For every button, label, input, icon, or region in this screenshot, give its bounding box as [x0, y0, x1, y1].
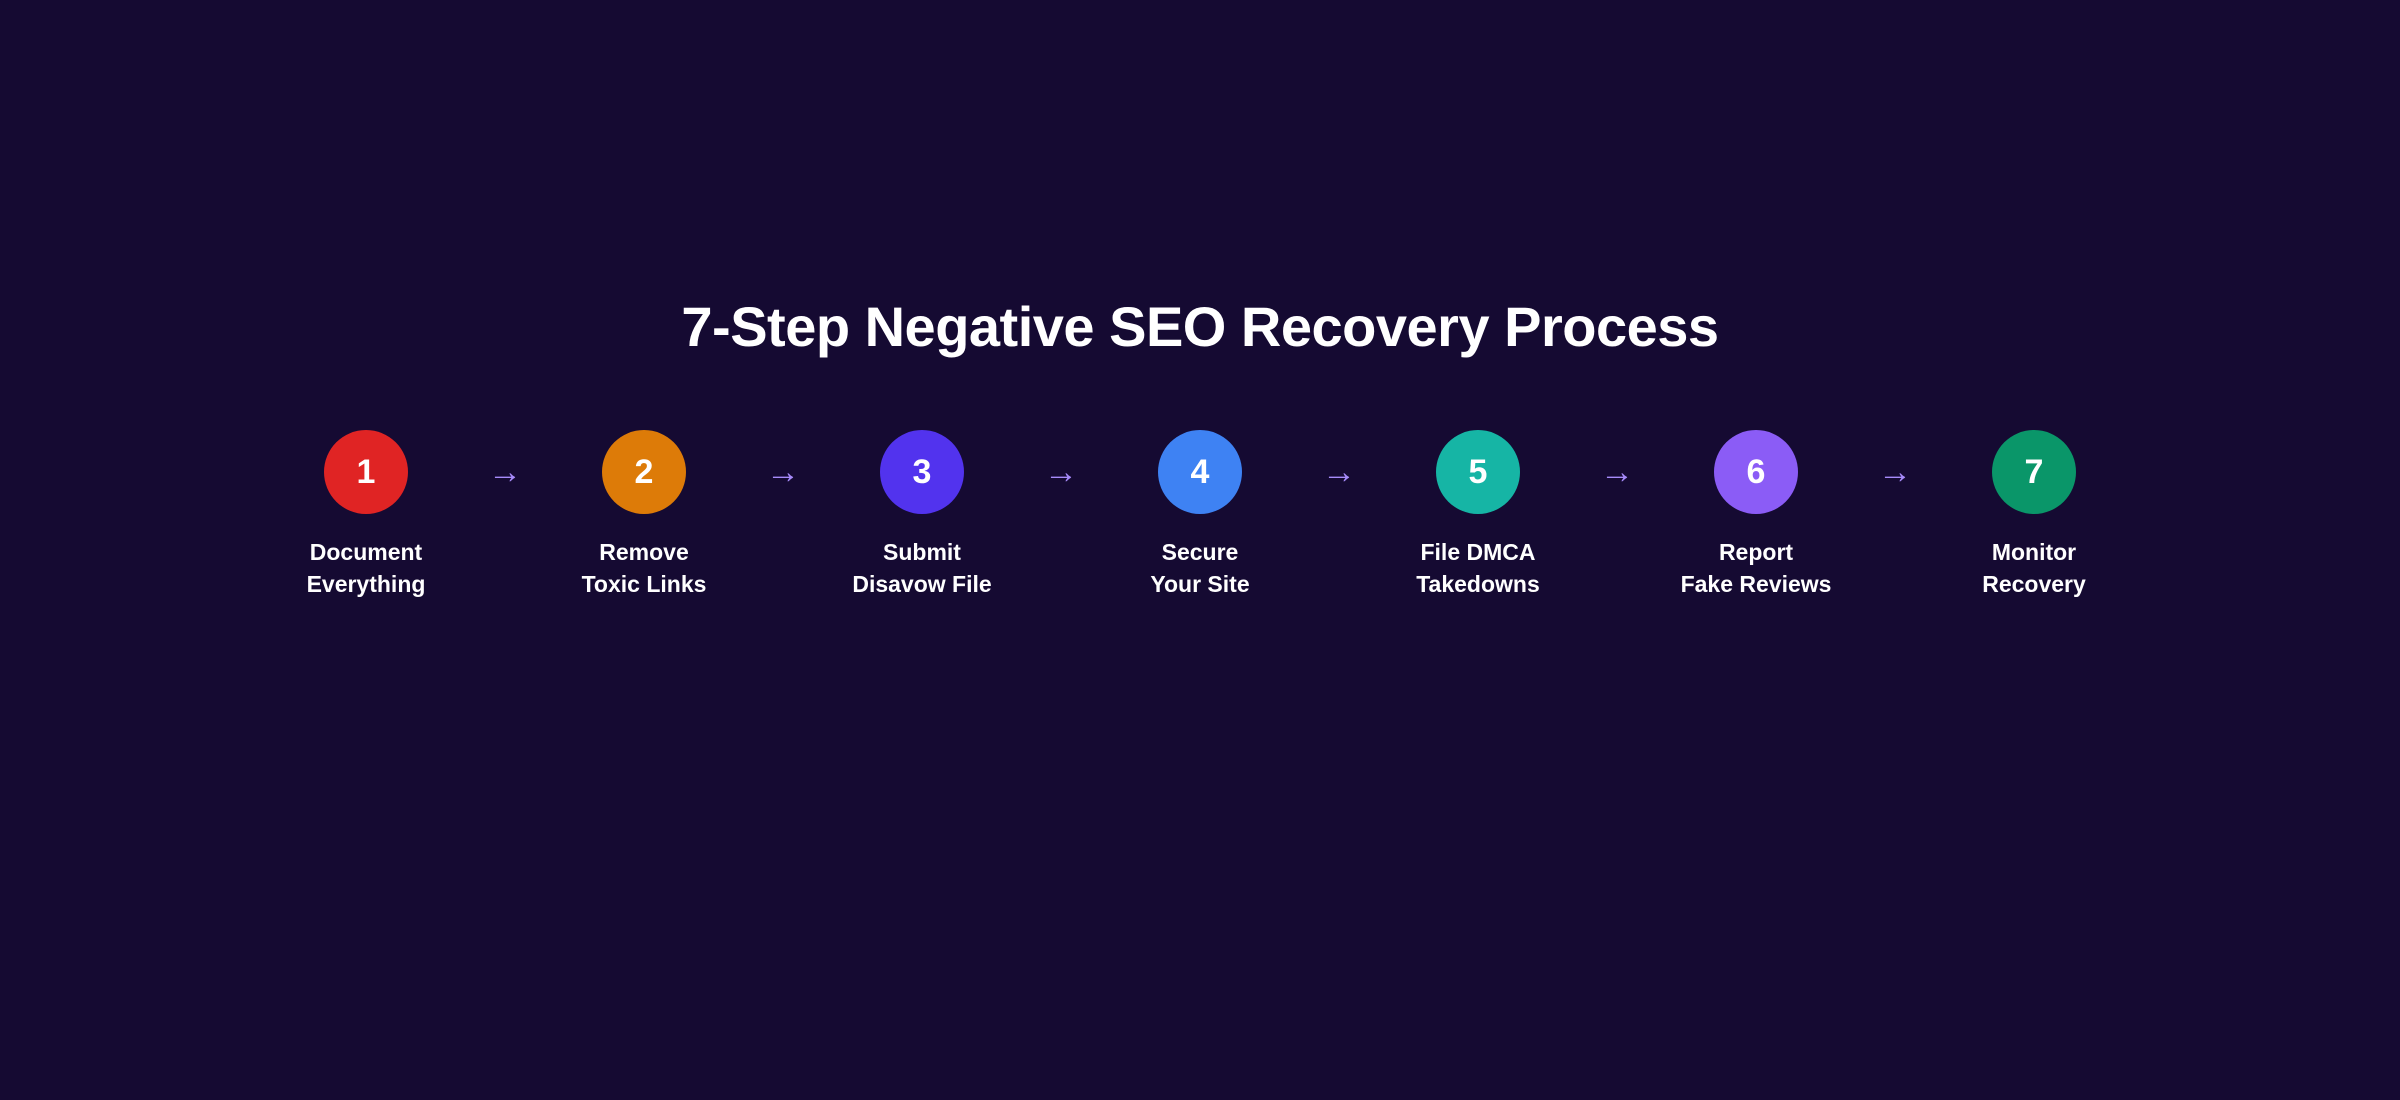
- step-5-number: 5: [1469, 455, 1488, 489]
- infographic-root: 7-Step Negative SEO Recovery Process 1 D…: [0, 0, 2400, 1100]
- step-7-label: Monitor Recovery: [1982, 536, 2086, 601]
- step-1-number: 1: [357, 455, 376, 489]
- arrow-icon-1: →: [449, 430, 561, 514]
- arrow-icon-6: →: [1839, 430, 1951, 514]
- page-title: 7-Step Negative SEO Recovery Process: [681, 296, 1718, 358]
- step-5-circle[interactable]: 5: [1436, 430, 1520, 514]
- step-2-number: 2: [635, 455, 654, 489]
- step-7-circle[interactable]: 7: [1992, 430, 2076, 514]
- step-3[interactable]: 3 Submit Disavow File: [839, 430, 1005, 601]
- step-2[interactable]: 2 Remove Toxic Links: [561, 430, 727, 601]
- step-7[interactable]: 7 Monitor Recovery: [1951, 430, 2117, 601]
- step-6[interactable]: 6 Report Fake Reviews: [1673, 430, 1839, 601]
- step-1-circle[interactable]: 1: [324, 430, 408, 514]
- step-1[interactable]: 1 Document Everything: [283, 430, 449, 601]
- process-flow: 1 Document Everything → 2 Remove Toxic L…: [140, 430, 2260, 601]
- step-4-circle[interactable]: 4: [1158, 430, 1242, 514]
- step-5-label: File DMCA Takedowns: [1416, 536, 1540, 601]
- arrow-icon-5: →: [1561, 430, 1673, 514]
- step-6-circle[interactable]: 6: [1714, 430, 1798, 514]
- step-5[interactable]: 5 File DMCA Takedowns: [1395, 430, 1561, 601]
- step-3-number: 3: [913, 455, 932, 489]
- step-6-label: Report Fake Reviews: [1681, 536, 1832, 601]
- step-3-circle[interactable]: 3: [880, 430, 964, 514]
- arrow-icon-2: →: [727, 430, 839, 514]
- step-3-label: Submit Disavow File: [852, 536, 991, 601]
- arrow-icon-3: →: [1005, 430, 1117, 514]
- step-4-label: Secure Your Site: [1150, 536, 1249, 601]
- step-7-number: 7: [2025, 455, 2044, 489]
- step-6-number: 6: [1747, 455, 1766, 489]
- step-4[interactable]: 4 Secure Your Site: [1117, 430, 1283, 601]
- step-2-label: Remove Toxic Links: [582, 536, 707, 601]
- step-1-label: Document Everything: [307, 536, 426, 601]
- arrow-icon-4: →: [1283, 430, 1395, 514]
- step-2-circle[interactable]: 2: [602, 430, 686, 514]
- step-4-number: 4: [1191, 455, 1210, 489]
